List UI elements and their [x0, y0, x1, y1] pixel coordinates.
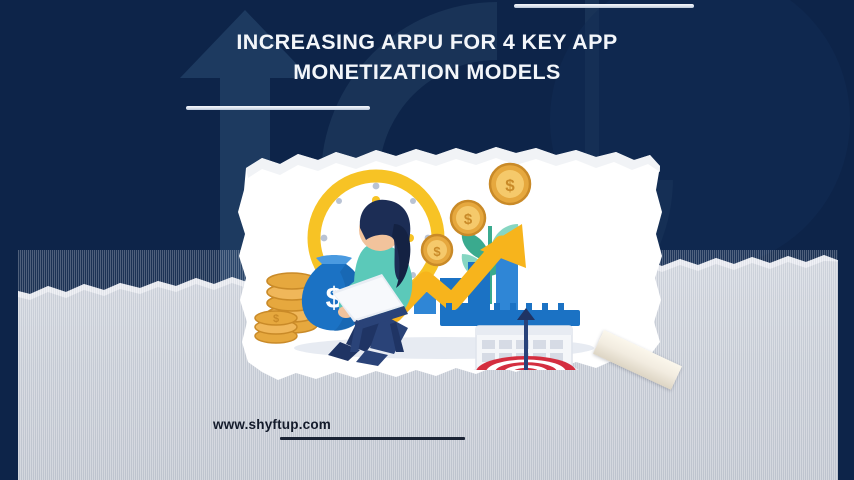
website-url[interactable]: www.shyftup.com: [213, 417, 331, 432]
decorative-rule-left: [186, 106, 370, 110]
navy-edge-left: [0, 250, 18, 480]
title-line-2: MONETIZATION MODELS: [120, 58, 734, 88]
svg-text:$: $: [433, 244, 441, 259]
svg-text:$: $: [273, 313, 279, 325]
plant-coin-3: $: [422, 235, 452, 265]
plant-coin-2: $: [451, 201, 485, 235]
decorative-rule-top-right: [514, 4, 694, 8]
arpu-growth-illustration: $ $ $: [254, 162, 648, 370]
svg-text:$: $: [464, 211, 473, 228]
plant-coin-1: $: [490, 164, 530, 204]
title-line-1: INCREASING ARPU FOR 4 KEY APP: [120, 28, 734, 58]
blog-banner: INCREASING ARPU FOR 4 KEY APP MONETIZATI…: [0, 0, 854, 480]
illustration-svg: $ $ $: [254, 162, 648, 370]
url-underline-rule: [280, 437, 465, 440]
banner-title: INCREASING ARPU FOR 4 KEY APP MONETIZATI…: [120, 28, 734, 87]
dart-shaft: [524, 314, 528, 370]
svg-text:$: $: [505, 176, 515, 195]
navy-edge-right: [838, 250, 854, 480]
